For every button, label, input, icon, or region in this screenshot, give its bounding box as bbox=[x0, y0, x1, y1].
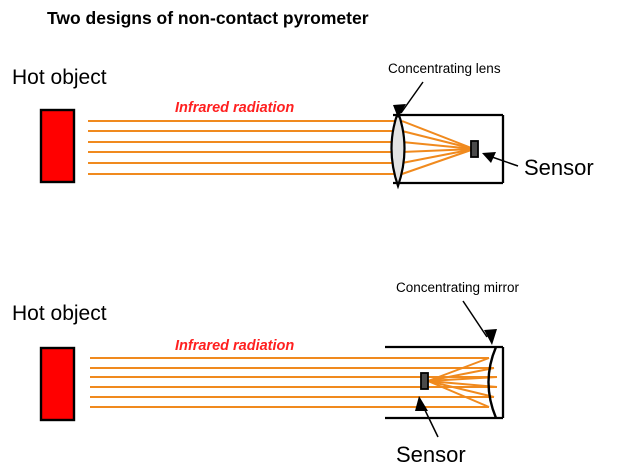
sensor-label-lens: Sensor bbox=[524, 155, 594, 180]
hot-object-block-mirror bbox=[41, 348, 74, 420]
hot-object-label-lens: Hot object bbox=[12, 66, 107, 89]
hot-object-label-mirror: Hot object bbox=[12, 302, 107, 325]
sensor-chip-icon-mirror bbox=[421, 373, 428, 389]
figure-canvas: Two designs of non-contact pyrometer Hot… bbox=[0, 0, 620, 471]
concentrating-mirror-label: Concentrating mirror bbox=[396, 280, 520, 295]
page-title: Two designs of non-contact pyrometer bbox=[47, 8, 369, 28]
hot-object-block-lens bbox=[41, 110, 74, 182]
concentrating-lens-label: Concentrating lens bbox=[388, 61, 501, 76]
sensor-label-mirror: Sensor bbox=[396, 442, 466, 467]
infrared-radiation-label-mirror: Infrared radiation bbox=[175, 338, 294, 354]
sensor-chip-icon-lens bbox=[471, 141, 478, 157]
infrared-radiation-label-lens: Infrared radiation bbox=[175, 100, 294, 116]
